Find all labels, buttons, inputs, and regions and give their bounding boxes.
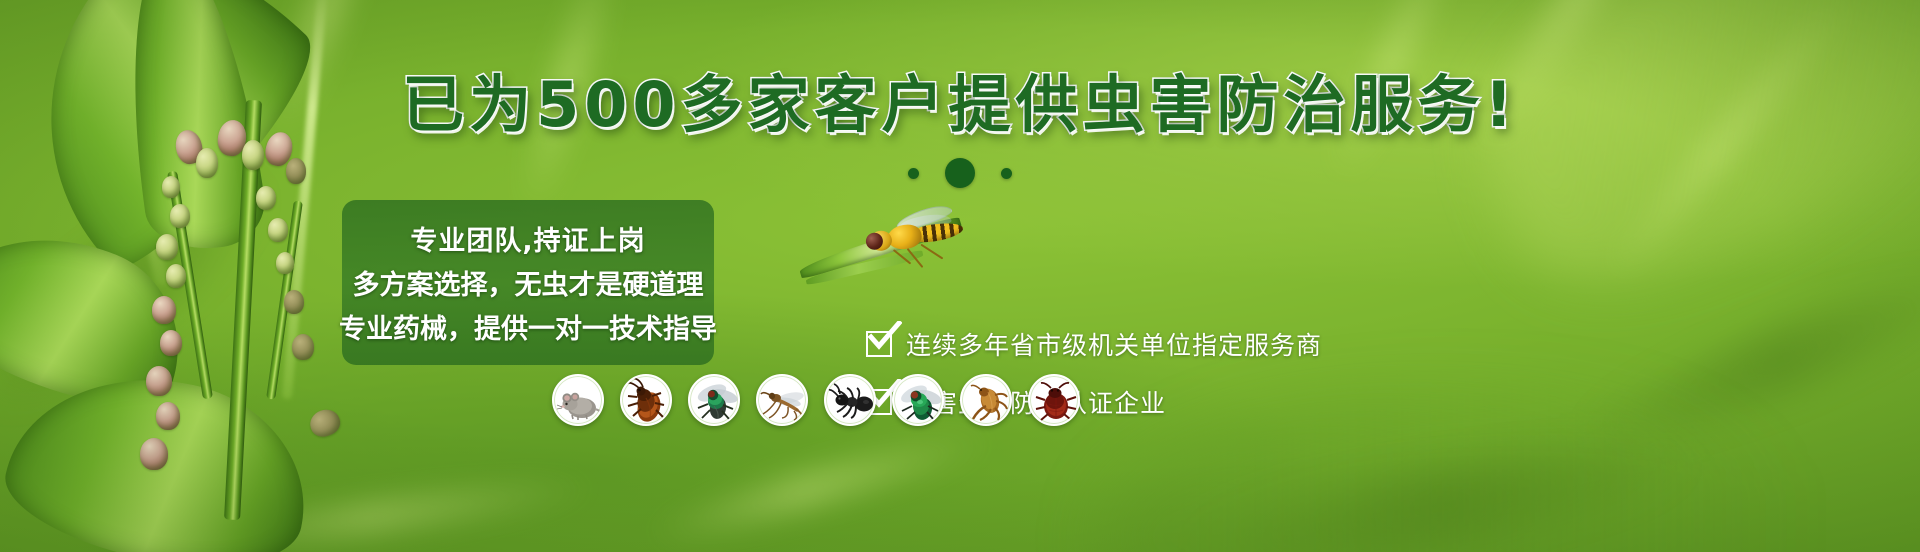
mosquito-icon[interactable] (756, 374, 808, 426)
selling-point-line-2: 多方案选择，无虫才是硬道理 (353, 263, 704, 302)
checkbox-checked-icon (866, 331, 892, 357)
flea-icon[interactable] (960, 374, 1012, 426)
pest-type-icon-row (552, 374, 1080, 426)
housefly-icon[interactable] (688, 374, 740, 426)
cockroach-icon[interactable] (620, 374, 672, 426)
selling-point-line-1: 专业团队,持证上岗 (410, 219, 645, 258)
decorative-dots (0, 158, 1920, 188)
mouse-icon[interactable] (552, 374, 604, 426)
bedbug-icon[interactable] (1028, 374, 1080, 426)
page-title: 已为500多家客户提供虫害防治服务! (0, 74, 1920, 136)
selling-points-panel: 专业团队,持证上岗 多方案选择，无虫才是硬道理 专业药械，提供一对一技术指导 (342, 200, 714, 365)
checklist-item-label: 连续多年省市级机关单位指定服务商 (906, 326, 1322, 362)
hoverfly-leg (920, 244, 943, 260)
pest-control-hero-banner: 已为500多家客户提供虫害防治服务! 专业团队,持证上岗 多方案选择，无虫才是硬… (0, 0, 1920, 552)
ant-icon[interactable] (824, 374, 876, 426)
page-title-text: 已为500多家客户提供虫害防治服务! (402, 68, 1518, 141)
decor-dot-small-left (908, 168, 919, 179)
decor-dot-large-center (945, 158, 975, 188)
list-item: 连续多年省市级机关单位指定服务商 (866, 326, 1322, 362)
hoverfly-leg (907, 248, 924, 268)
hoverfly-on-grass-blade (800, 228, 980, 318)
green-blowfly-icon[interactable] (892, 374, 944, 426)
decor-dot-small-right (1001, 168, 1012, 179)
selling-point-line-3: 专业药械，提供一对一技术指导 (339, 307, 717, 346)
check-mark-icon (868, 321, 902, 351)
